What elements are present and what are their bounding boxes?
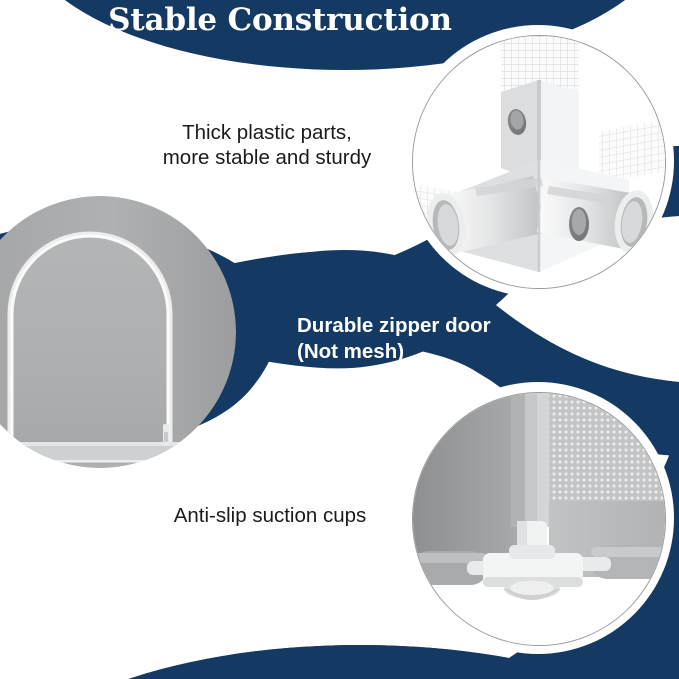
corner-connector-photo bbox=[412, 35, 666, 289]
feature-label-durable-zipper-door: Durable zipper door (Not mesh) bbox=[297, 313, 547, 365]
photo-cutout-left bbox=[0, 430, 230, 679]
suction-cup-photo bbox=[412, 392, 666, 646]
feature-label-anti-slip-suction-cups: Anti-slip suction cups bbox=[120, 503, 420, 528]
corner-connector-icon bbox=[413, 36, 665, 288]
infographic-canvas: Stable Construction Thick plastic parts,… bbox=[0, 0, 679, 679]
suction-cup-icon bbox=[413, 393, 665, 645]
page-title: Stable Construction bbox=[0, 2, 560, 38]
feature-label-thick-plastic-parts: Thick plastic parts, more stable and stu… bbox=[128, 120, 406, 170]
